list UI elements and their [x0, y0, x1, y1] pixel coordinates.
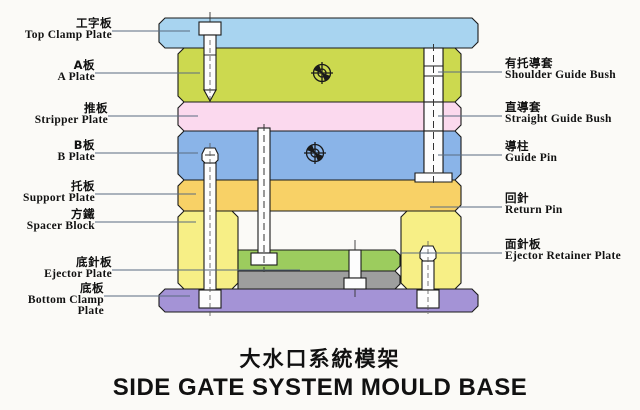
label-spacer-block-en: Spacer Block — [0, 221, 95, 233]
label-top-clamp-plate-cn: 工字板 — [0, 18, 112, 30]
plate-ejector-plate[interactable] — [238, 271, 400, 289]
label-bottom-clamp-plate: 底板 Bottom Clamp Plate — [0, 283, 104, 318]
label-top-clamp-plate-en: Top Clamp Plate — [0, 30, 112, 42]
label-stripper-plate-cn: 推板 — [0, 103, 108, 115]
label-support-plate-cn: 托板 — [0, 181, 95, 193]
diagram-title: 大水口系統模架 SIDE GATE SYSTEM MOULD BASE — [0, 343, 640, 402]
label-b-plate-en: B Plate — [0, 152, 95, 164]
label-straight-guide-bush-en: Straight Guide Bush — [505, 114, 612, 126]
diagram-canvas: 工字板 Top Clamp Plate A板 A Plate 推板 Stripp… — [0, 0, 640, 410]
label-ejector-plate-en: Ejector Plate — [0, 269, 112, 281]
label-guide-pin-en: Guide Pin — [505, 153, 557, 165]
label-return-pin: 回針 Return Pin — [505, 193, 563, 216]
label-bottom-clamp-plate-cn: 底板 — [0, 283, 104, 295]
label-shoulder-guide-bush: 有托導套 Shoulder Guide Bush — [505, 58, 616, 81]
label-straight-guide-bush: 直導套 Straight Guide Bush — [505, 102, 612, 125]
label-straight-guide-bush-cn: 直導套 — [505, 102, 612, 114]
label-guide-pin-cn: 導柱 — [505, 141, 557, 153]
label-return-pin-cn: 回針 — [505, 193, 563, 205]
label-shoulder-guide-bush-en: Shoulder Guide Bush — [505, 70, 616, 82]
label-stripper-plate-en: Stripper Plate — [0, 115, 108, 127]
label-shoulder-guide-bush-cn: 有托導套 — [505, 58, 616, 70]
label-ejector-retainer-plate: 面針板 Ejector Retainer Plate — [505, 239, 621, 262]
title-english: SIDE GATE SYSTEM MOULD BASE — [0, 374, 640, 402]
label-stripper-plate: 推板 Stripper Plate — [0, 103, 108, 126]
label-ejector-plate-cn: 底針板 — [0, 257, 112, 269]
label-ejector-retainer-plate-en: Ejector Retainer Plate — [505, 251, 621, 263]
label-a-plate: A板 A Plate — [0, 60, 95, 83]
title-chinese: 大水口系統模架 — [0, 343, 640, 373]
label-a-plate-cn: A板 — [0, 60, 95, 72]
label-bottom-clamp-plate-en: Bottom Clamp Plate — [0, 295, 104, 318]
label-top-clamp-plate: 工字板 Top Clamp Plate — [0, 18, 112, 41]
label-spacer-block-cn: 方鐵 — [0, 209, 95, 221]
label-return-pin-en: Return Pin — [505, 205, 563, 217]
label-support-plate-en: Support Plate — [0, 193, 95, 205]
label-guide-pin: 導柱 Guide Pin — [505, 141, 557, 164]
label-ejector-retainer-plate-cn: 面針板 — [505, 239, 621, 251]
label-b-plate: B板 B Plate — [0, 140, 95, 163]
label-a-plate-en: A Plate — [0, 72, 95, 84]
label-support-plate: 托板 Support Plate — [0, 181, 95, 204]
plate-support-plate[interactable] — [178, 180, 461, 211]
plate-stripper-plate[interactable] — [178, 102, 424, 131]
plate-a-plate-right-wing — [443, 48, 461, 102]
label-b-plate-cn: B板 — [0, 140, 95, 152]
label-ejector-plate: 底針板 Ejector Plate — [0, 257, 112, 280]
label-spacer-block: 方鐵 Spacer Block — [0, 209, 95, 232]
